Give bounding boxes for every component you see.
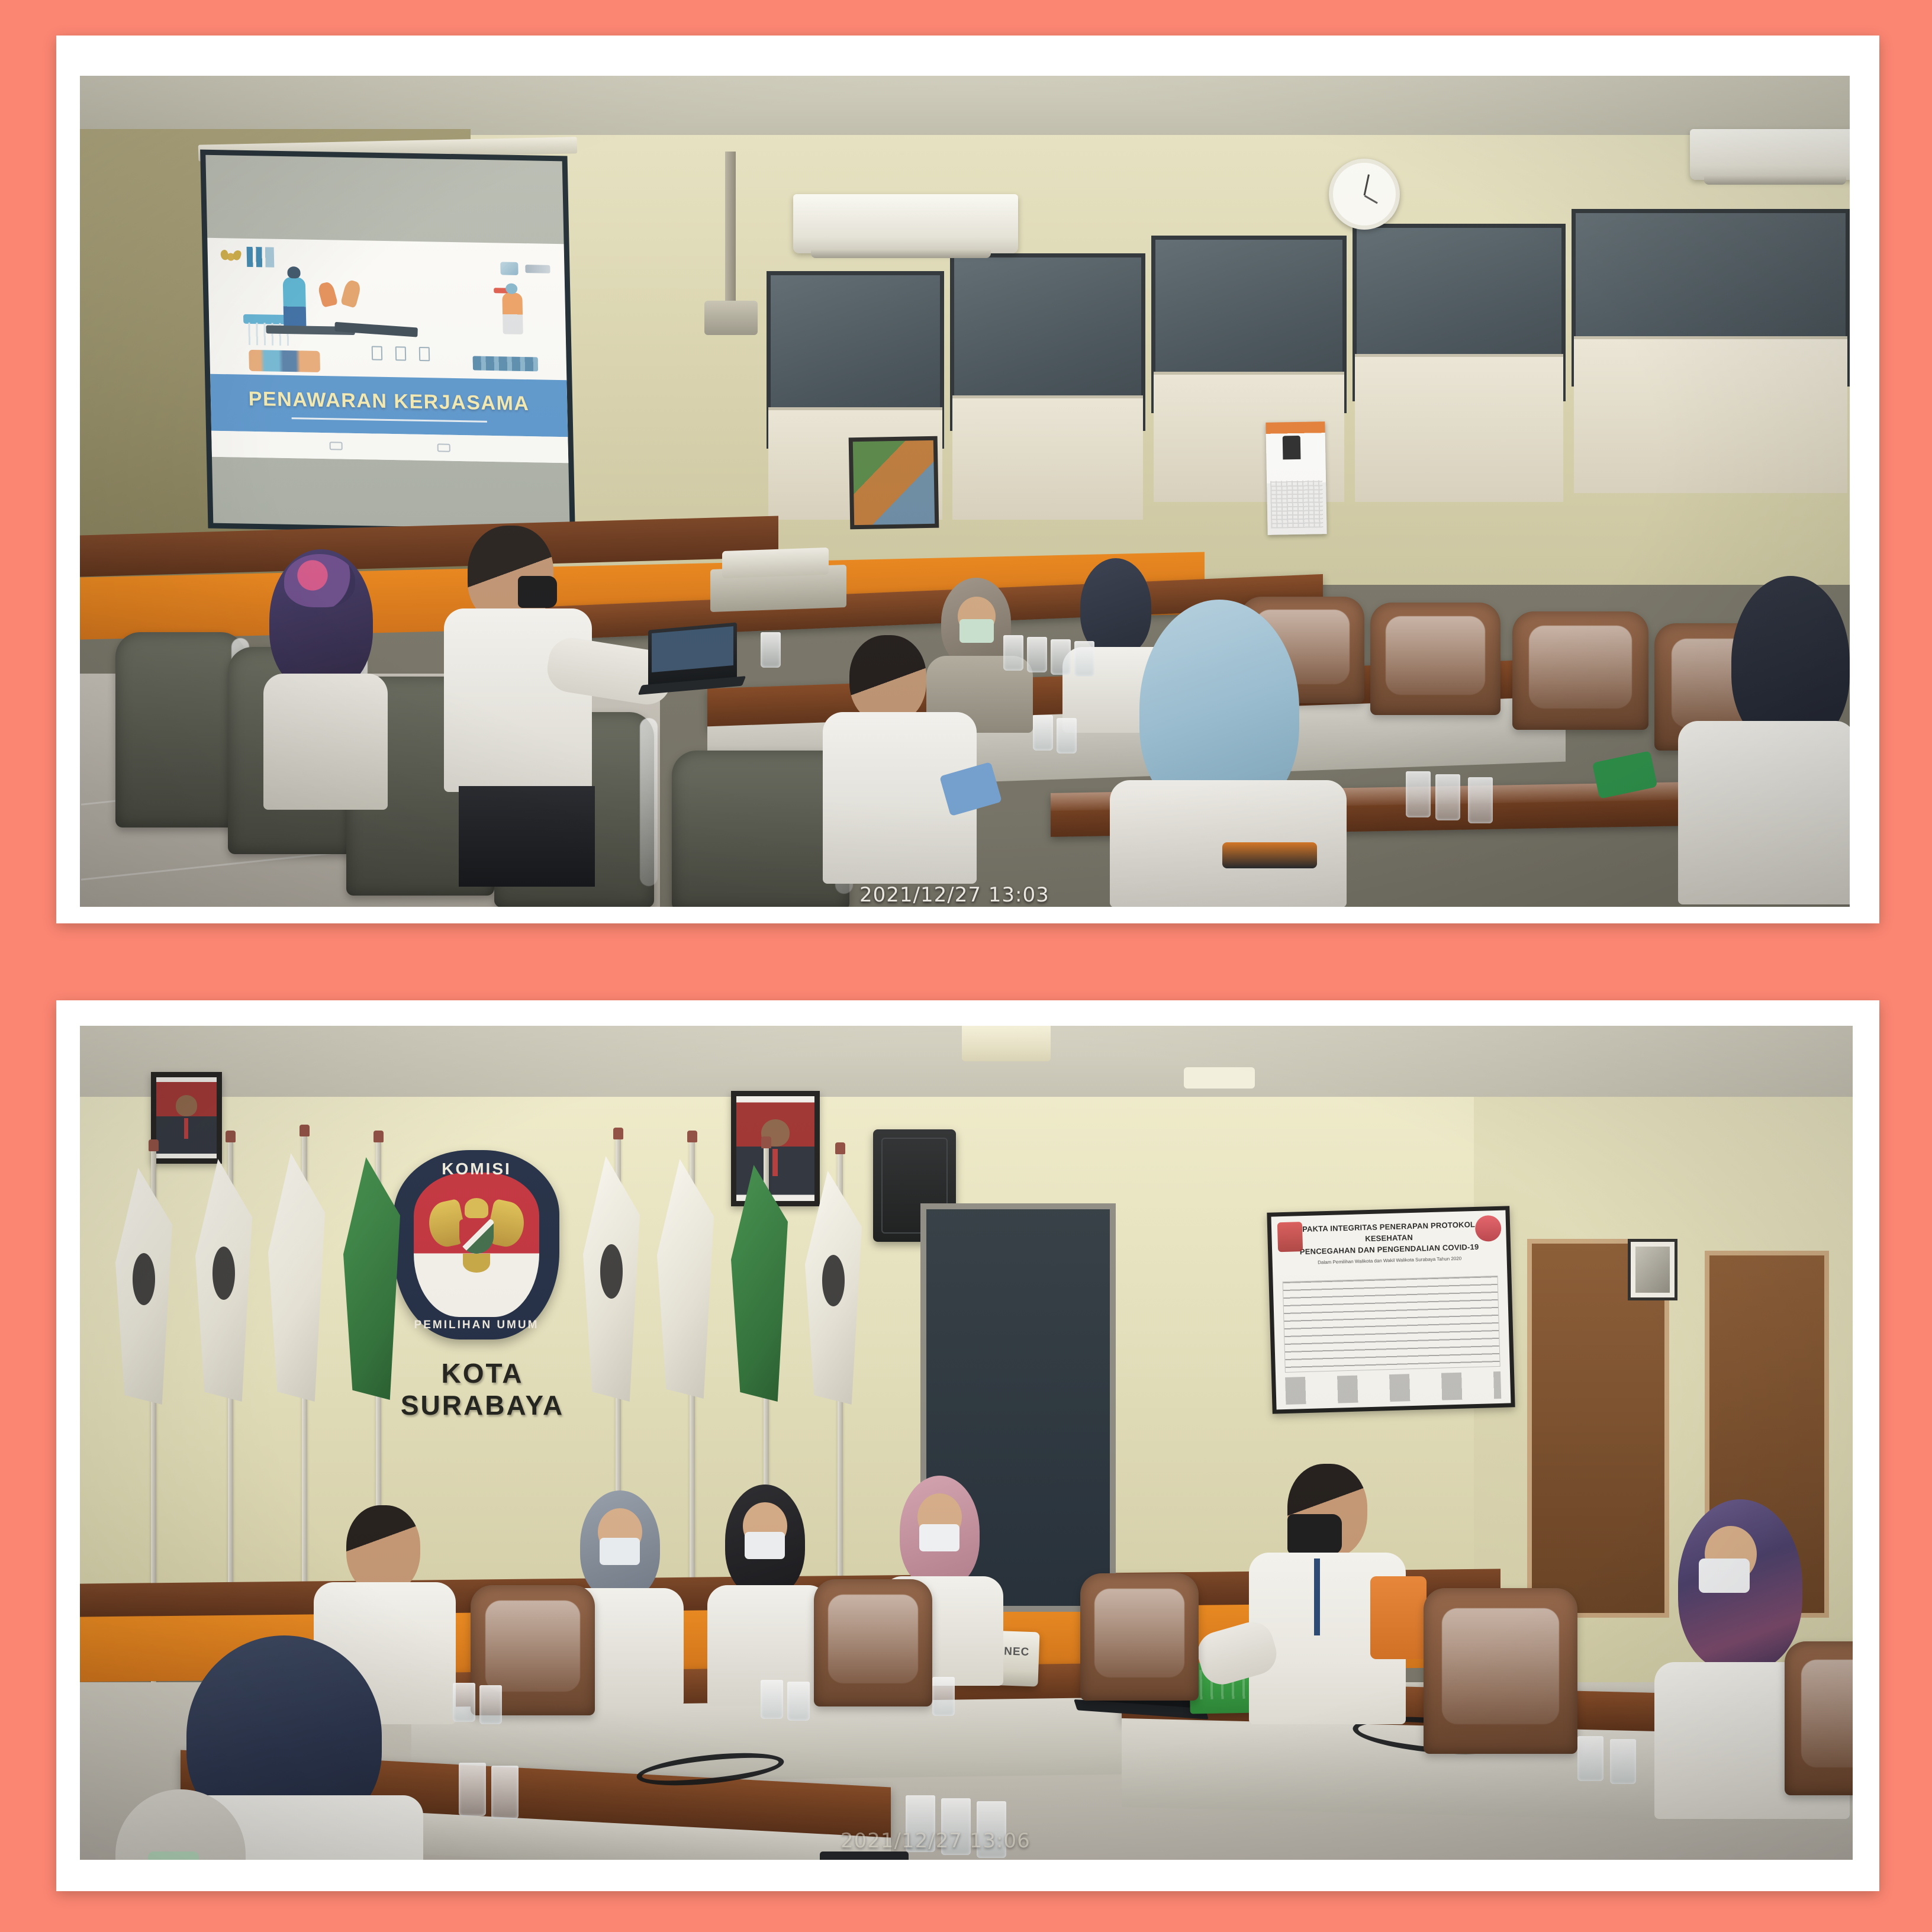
poster-body-text bbox=[1283, 1276, 1500, 1373]
brown-chair bbox=[814, 1579, 932, 1706]
drinking-glass bbox=[761, 632, 781, 668]
photo-bottom-timestamp: 2021/12/27 13:06 bbox=[841, 1829, 1031, 1853]
presidential-portrait bbox=[151, 1072, 222, 1164]
laptop bbox=[648, 622, 737, 687]
framed-photo bbox=[849, 436, 939, 530]
trousers bbox=[459, 786, 595, 887]
emblem-text-pemilihan-umum: PEMILIHAN UMUM bbox=[394, 1319, 559, 1332]
drinking-glass bbox=[1468, 777, 1493, 823]
ceiling-light bbox=[1184, 1067, 1255, 1089]
photo-top-timestamp: 2021/12/27 13:03 bbox=[859, 883, 1049, 907]
brown-chair bbox=[1370, 603, 1500, 715]
kpu-logo-icon bbox=[1277, 1222, 1303, 1252]
drinking-glass bbox=[1057, 718, 1077, 754]
illustration-person-blue bbox=[283, 277, 307, 332]
drinking-glass bbox=[479, 1685, 502, 1724]
emblem-text-komisi: KOMISI bbox=[394, 1160, 559, 1178]
slide-footer bbox=[211, 431, 568, 463]
slide-title-underline bbox=[292, 417, 487, 423]
vice-presidential-portrait bbox=[731, 1091, 820, 1206]
brown-chair bbox=[1080, 1573, 1199, 1701]
remote-control bbox=[820, 1851, 909, 1860]
drinking-glass bbox=[1003, 635, 1023, 671]
face-mask bbox=[919, 1524, 959, 1551]
drinking-glass bbox=[761, 1680, 783, 1719]
projector-ceiling-mount bbox=[725, 152, 736, 305]
drinking-glass bbox=[932, 1677, 955, 1716]
photo-top-meeting-room: PENAWARAN KERJASAMA bbox=[80, 76, 1850, 907]
desk-item bbox=[1222, 842, 1317, 868]
poster-signature-row bbox=[1285, 1371, 1501, 1405]
drinking-glass bbox=[459, 1763, 486, 1816]
table-projector bbox=[722, 548, 829, 578]
illustration-icon-row bbox=[372, 346, 430, 362]
brown-chair bbox=[1512, 611, 1648, 730]
wall-calendar bbox=[1266, 421, 1326, 535]
lanyard bbox=[1314, 1559, 1320, 1635]
projector-brand-label: NEC bbox=[1004, 1645, 1030, 1659]
pakta-integritas-poster: PAKTA INTEGRITAS PENERAPAN PROTOKOL KESE… bbox=[1267, 1206, 1515, 1413]
face-mask bbox=[600, 1538, 640, 1565]
projector-mount-box bbox=[704, 301, 758, 335]
drinking-glass bbox=[1406, 771, 1431, 817]
face-mask bbox=[148, 1851, 199, 1860]
face-mask bbox=[518, 576, 557, 608]
face-mask bbox=[745, 1532, 785, 1559]
drinking-glass bbox=[1033, 715, 1053, 751]
slide-title-band: PENAWARAN KERJASAMA bbox=[210, 374, 568, 437]
slide-title: PENAWARAN KERJASAMA bbox=[248, 388, 529, 416]
emblem-text-kota-surabaya: KOTA SURABAYA bbox=[358, 1357, 607, 1421]
illustration-person-right bbox=[502, 292, 523, 334]
garuda-icon bbox=[429, 1198, 524, 1269]
illustration-person-orange-b bbox=[340, 279, 362, 308]
drinking-glass bbox=[1074, 641, 1094, 677]
photo-collage: PENAWARAN KERJASAMA bbox=[0, 0, 1932, 1932]
face-mask bbox=[1287, 1514, 1342, 1554]
projection-screen: PENAWARAN KERJASAMA bbox=[200, 150, 575, 535]
drinking-glass bbox=[1435, 774, 1460, 820]
air-conditioner bbox=[1690, 129, 1850, 180]
campaign-logo-icon bbox=[1475, 1215, 1502, 1242]
drinking-glass bbox=[1610, 1739, 1636, 1784]
air-conditioner bbox=[793, 194, 1018, 253]
illustration-boxes bbox=[473, 356, 539, 371]
drinking-glass bbox=[787, 1682, 810, 1721]
window-blind bbox=[1574, 336, 1847, 493]
brown-chair bbox=[1785, 1641, 1853, 1795]
brown-chair bbox=[1424, 1588, 1577, 1754]
photo-bottom-kpu-room: KOMISI PEMILIHAN UMUM KOTA SURABAYA bbox=[80, 1026, 1853, 1860]
face-mask bbox=[959, 619, 994, 643]
wall-plaque bbox=[1628, 1239, 1677, 1300]
face-mask bbox=[1699, 1559, 1750, 1593]
illustration-small-people bbox=[249, 350, 320, 372]
drinking-glass bbox=[1577, 1736, 1603, 1781]
slide-illustration bbox=[208, 263, 567, 387]
wall-clock bbox=[1329, 159, 1400, 230]
drinking-glass bbox=[453, 1683, 475, 1722]
presentation-slide: PENAWARAN KERJASAMA bbox=[207, 238, 568, 463]
drinking-glass bbox=[1051, 639, 1071, 675]
ceiling-lamp bbox=[962, 1026, 1051, 1061]
illustration-person-orange-a bbox=[317, 281, 338, 308]
kpu-emblem: KOMISI PEMILIHAN UMUM bbox=[394, 1150, 559, 1339]
drinking-glass bbox=[491, 1766, 519, 1819]
polo-sleeve bbox=[1370, 1576, 1427, 1659]
window-blind bbox=[1355, 354, 1563, 502]
office-chair bbox=[115, 632, 246, 827]
drinking-glass bbox=[1027, 637, 1047, 672]
window-blind bbox=[952, 395, 1143, 520]
